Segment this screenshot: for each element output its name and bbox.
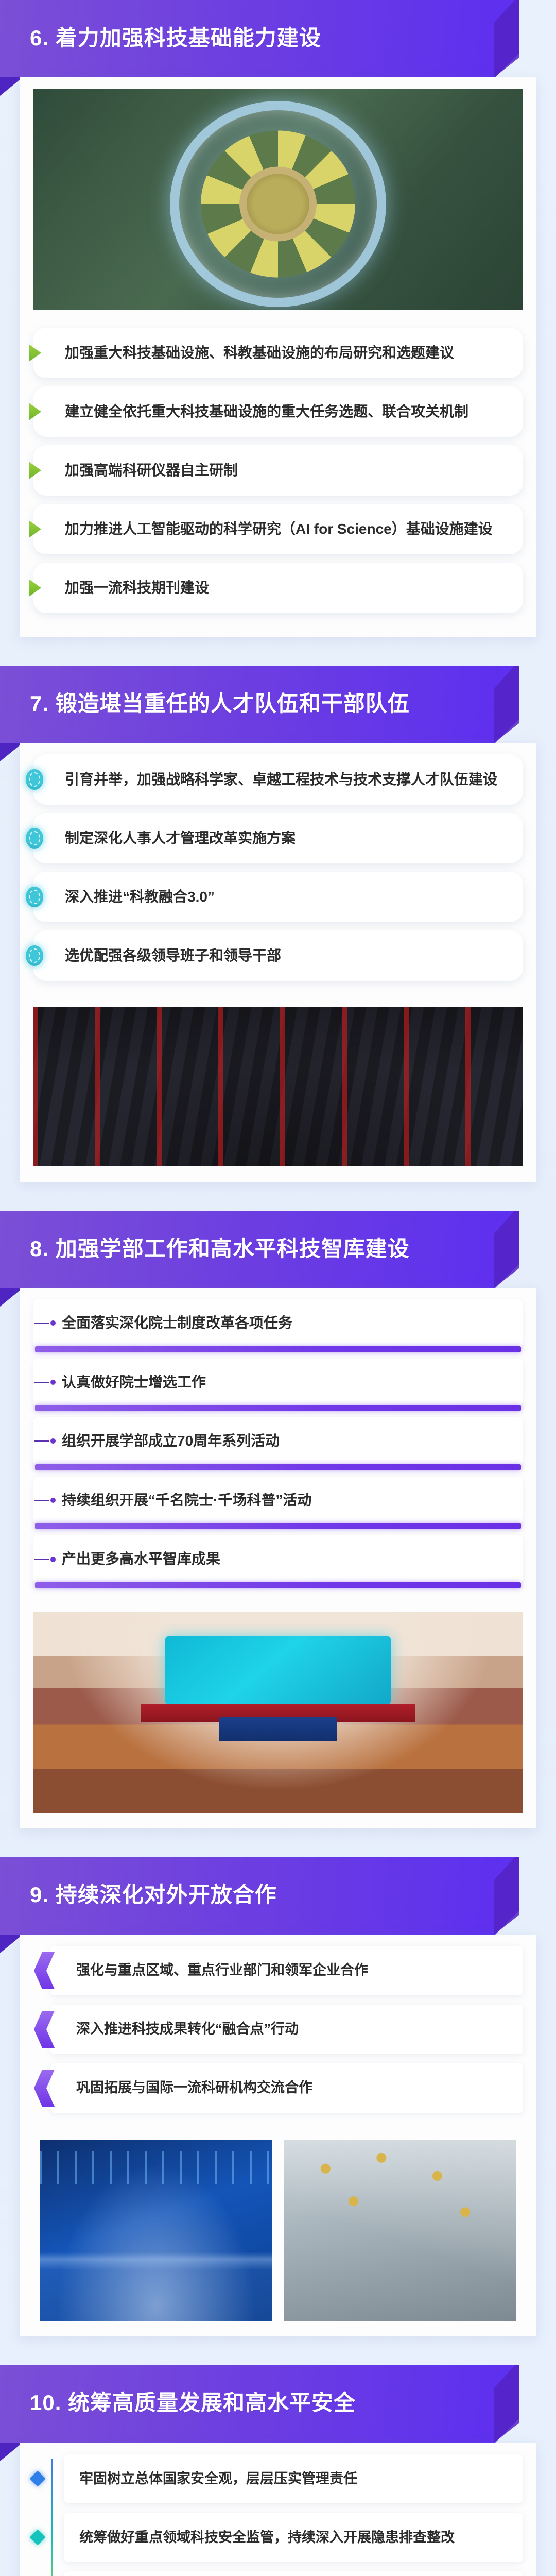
- conference-screen: [165, 1636, 391, 1705]
- bullet-text: 组织开展学部成立70周年系列活动: [62, 1431, 280, 1452]
- section-7-banner: 7. 锻造堪当重任的人才队伍和干部队伍: [0, 666, 556, 743]
- arrow-line-icon: [34, 1438, 57, 1444]
- section-6-bullet-list: 加强重大科技基础设施、科教基础设施的布局研究和选题建议 建立健全依托重大科技基础…: [33, 328, 523, 613]
- accelerator-photo: [33, 89, 523, 310]
- section-7-bullet-list: 引育并举，加强战略科学家、卓越工程技术与技术支撑人才队伍建设 制定深化人事人才管…: [33, 754, 523, 981]
- section-6-banner: 6. 着力加强科技基础能力建设: [0, 0, 556, 77]
- section-8-banner-shape: 8. 加强学部工作和高水平科技智库建设: [0, 1211, 519, 1288]
- arrow-line-icon: [34, 1379, 57, 1385]
- bullet-text: 强化与重点区域、重点行业部门和领军企业合作: [76, 1960, 368, 1980]
- section-7: 7. 锻造堪当重任的人才队伍和干部队伍 引育并举，加强战略科学家、卓越工程技术与…: [0, 666, 556, 1182]
- list-item[interactable]: 巩固拓展与国际一流科研机构交流合作: [50, 2063, 523, 2113]
- section-8-title: 8. 加强学部工作和高水平科技智库建设: [0, 1231, 410, 1263]
- list-item[interactable]: 加强重大科技基础设施、科教基础设施的布局研究和选题建议: [33, 328, 523, 378]
- diamond-bullet-icon: [29, 2529, 45, 2545]
- circle-bullet-icon: [26, 945, 43, 966]
- bullet-text: 持续组织开展“千名院士·千场科普”活动: [62, 1490, 311, 1511]
- arrow-right-icon: [29, 579, 41, 597]
- bullet-text: 引育并举，加强战略科学家、卓越工程技术与技术支撑人才队伍建设: [65, 769, 497, 790]
- diamond-bullet-icon: [29, 2470, 45, 2486]
- bullet-text: 加强高端科研仪器自主研制: [65, 460, 238, 481]
- conference-photo: [33, 1612, 523, 1813]
- bullet-text: 牢固树立总体国家安全观，层层压实管理责任: [79, 2468, 357, 2489]
- list-item[interactable]: 全面落实深化院士制度改革各项任务: [33, 1299, 523, 1347]
- list-item[interactable]: 选优配强各级领导班子和领导干部: [33, 930, 523, 981]
- bullet-text: 全面落实深化院士制度改革各项任务: [62, 1313, 292, 1334]
- section-8-banner: 8. 加强学部工作和高水平科技智库建设: [0, 1211, 556, 1288]
- list-item[interactable]: 牢固树立总体国家安全观，层层压实管理责任: [64, 2454, 523, 2503]
- chevron-left-icon: [34, 1952, 55, 1989]
- section-7-hero-image: [33, 1007, 523, 1166]
- arrow-line-icon: [34, 1320, 57, 1326]
- section-10: 10. 统筹高质量发展和高水平安全 牢固树立总体国家安全观，层层压实管理责任 统…: [0, 2365, 556, 2576]
- section-10-bullet-list: 牢固树立总体国家安全观，层层压实管理责任 统筹做好重点领域科技安全监管，持续深入…: [33, 2454, 523, 2576]
- circle-bullet-icon: [26, 887, 43, 907]
- section-9-body: 强化与重点区域、重点行业部门和领军企业合作 深入推进科技成果转化“融合点”行动 …: [20, 1935, 536, 2336]
- section-8-bullet-list: 全面落实深化院士制度改革各项任务 认真做好院士增选工作 组织开展学部成立70周年…: [33, 1299, 523, 1583]
- bullet-text: 深入推进“科教融合3.0”: [65, 886, 215, 908]
- bullet-text: 产出更多高水平智库成果: [62, 1549, 220, 1570]
- accelerator-inner-ring: [239, 166, 317, 241]
- bullet-text: 认真做好院士增选工作: [62, 1372, 206, 1393]
- arrow-line-icon: [34, 1497, 57, 1503]
- bullet-text: 统筹做好重点领域科技安全监管，持续深入开展隐患排查整改: [79, 2527, 455, 2548]
- arrow-line-icon: [34, 1556, 57, 1563]
- section-10-banner-shape: 10. 统筹高质量发展和高水平安全: [0, 2365, 519, 2443]
- list-item[interactable]: 强化与重点区域、重点行业部门和领军企业合作: [50, 1946, 523, 1995]
- graduation-photo: [33, 1007, 523, 1166]
- bullet-text: 建立健全依托重大科技基础设施的重大任务选题、联合攻关机制: [65, 401, 468, 422]
- section-9-bullet-list: 强化与重点区域、重点行业部门和领军企业合作 深入推进科技成果转化“融合点”行动 …: [50, 1946, 523, 2113]
- section-10-title: 10. 统筹高质量发展和高水平安全: [0, 2385, 356, 2417]
- section-8-hero-image: [33, 1612, 523, 1813]
- section-6-body: 加强重大科技基础设施、科教基础设施的布局研究和选题建议 建立健全依托重大科技基础…: [20, 77, 536, 637]
- section-9: 9. 持续深化对外开放合作 强化与重点区域、重点行业部门和领军企业合作 深入推进…: [0, 1857, 556, 2336]
- section-6-title: 6. 着力加强科技基础能力建设: [0, 21, 321, 52]
- circle-bullet-icon: [26, 828, 43, 849]
- list-item[interactable]: 加力推进人工智能驱动的科学研究（AI for Science）基础设施建设: [33, 504, 523, 554]
- bullet-text: 选优配强各级领导班子和领导干部: [65, 945, 281, 967]
- section-6-banner-shape: 6. 着力加强科技基础能力建设: [0, 0, 519, 77]
- list-item[interactable]: 加强高端科研仪器自主研制: [33, 445, 523, 496]
- conference-podium: [219, 1717, 337, 1741]
- arrow-right-icon: [29, 462, 41, 479]
- section-6: 6. 着力加强科技基础能力建设 加强重大科技基础设施、科教基础设施的布局研究和选…: [0, 0, 556, 637]
- circle-bullet-icon: [26, 769, 43, 790]
- section-7-body: 引育并举，加强战略科学家、卓越工程技术与技术支撑人才队伍建设 制定深化人事人才管…: [20, 743, 536, 1182]
- section-9-banner: 9. 持续深化对外开放合作: [0, 1857, 556, 1935]
- section-7-title: 7. 锻造堪当重任的人才队伍和干部队伍: [0, 686, 410, 718]
- list-item[interactable]: 持续组织开展“千名院士·千场科普”活动: [33, 1477, 523, 1524]
- section-6-hero-image: [33, 89, 523, 310]
- bullet-text: 加力推进人工智能驱动的科学研究（AI for Science）基础设施建设: [65, 518, 493, 540]
- list-item[interactable]: 组织开展学部成立70周年系列活动: [33, 1417, 523, 1465]
- list-item[interactable]: 以高质量安全保障重大科技任务顺利实施: [64, 2571, 523, 2576]
- section-9-title: 9. 持续深化对外开放合作: [0, 1877, 277, 1909]
- section-9-banner-shape: 9. 持续深化对外开放合作: [0, 1857, 519, 1935]
- section-7-banner-shape: 7. 锻造堪当重任的人才队伍和干部队伍: [0, 666, 519, 743]
- list-item[interactable]: 统筹做好重点领域科技安全监管，持续深入开展隐患排查整改: [64, 2513, 523, 2562]
- bullet-text: 深入推进科技成果转化“融合点”行动: [76, 2019, 299, 2039]
- list-item[interactable]: 加强一流科技期刊建设: [33, 563, 523, 613]
- section-8: 8. 加强学部工作和高水平科技智库建设 全面落实深化院士制度改革各项任务 认真做…: [0, 1211, 556, 1828]
- chevron-left-icon: [34, 2070, 55, 2107]
- section-9-image-grid: [33, 2140, 523, 2321]
- chevron-left-icon: [34, 2011, 55, 2048]
- list-item[interactable]: 深入推进“科教融合3.0”: [33, 872, 523, 922]
- forum-signing-photo: [40, 2140, 272, 2321]
- cleanroom-photo: [284, 2140, 516, 2321]
- list-item[interactable]: 制定深化人事人才管理改革实施方案: [33, 813, 523, 863]
- section-8-body: 全面落实深化院士制度改革各项任务 认真做好院士增选工作 组织开展学部成立70周年…: [20, 1288, 536, 1828]
- bullet-text: 制定深化人事人才管理改革实施方案: [65, 827, 296, 849]
- arrow-right-icon: [29, 403, 41, 420]
- bullet-text: 巩固拓展与国际一流科研机构交流合作: [76, 2078, 312, 2098]
- section-10-body: 牢固树立总体国家安全观，层层压实管理责任 统筹做好重点领域科技安全监管，持续深入…: [20, 2443, 536, 2576]
- bullet-text: 加强一流科技期刊建设: [65, 577, 209, 599]
- list-item[interactable]: 产出更多高水平智库成果: [33, 1535, 523, 1583]
- list-item[interactable]: 认真做好院士增选工作: [33, 1359, 523, 1406]
- arrow-right-icon: [29, 344, 41, 362]
- section-10-banner: 10. 统筹高质量发展和高水平安全: [0, 2365, 556, 2443]
- arrow-right-icon: [29, 520, 41, 538]
- list-item[interactable]: 引育并举，加强战略科学家、卓越工程技术与技术支撑人才队伍建设: [33, 754, 523, 805]
- infographic-page: 6. 着力加强科技基础能力建设 加强重大科技基础设施、科教基础设施的布局研究和选…: [0, 0, 556, 2576]
- list-item[interactable]: 深入推进科技成果转化“融合点”行动: [50, 2005, 523, 2054]
- list-item[interactable]: 建立健全依托重大科技基础设施的重大任务选题、联合攻关机制: [33, 386, 523, 437]
- bullet-text: 加强重大科技基础设施、科教基础设施的布局研究和选题建议: [65, 342, 454, 364]
